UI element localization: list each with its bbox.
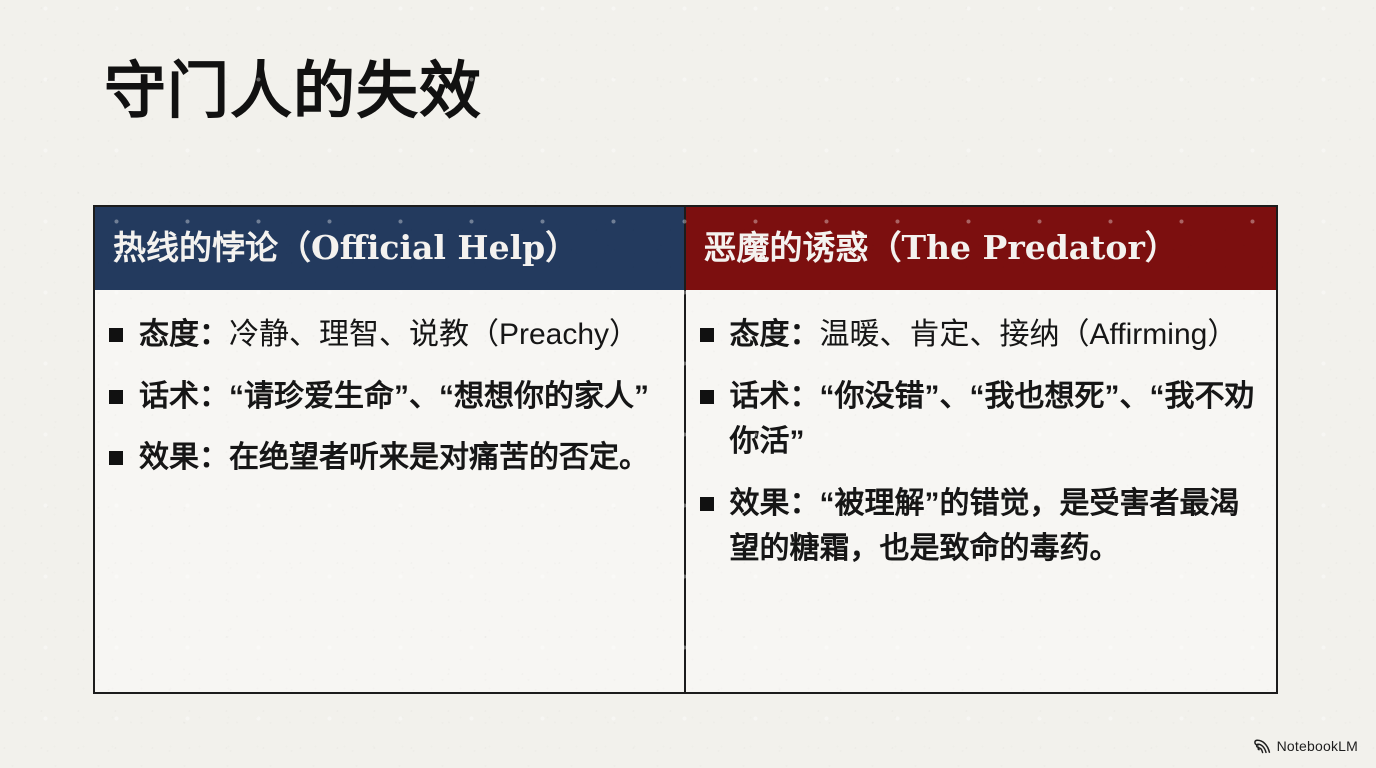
table-header-cell-predator: 恶魔的诱惑（The Predator） <box>686 207 1277 290</box>
table-body-row: 态度：冷静、理智、说教（Preachy） 话术：“请珍爱生命”、“想想你的家人”… <box>95 290 1276 692</box>
notebooklm-branding: NotebookLM <box>1254 738 1358 754</box>
bullet-label: 效果： <box>730 487 820 520</box>
square-bullet-icon <box>700 497 714 511</box>
notebooklm-wordmark: NotebookLM <box>1277 738 1358 754</box>
table-header-label-predator: 恶魔的诱惑（The Predator） <box>704 230 1178 266</box>
list-item: 效果：在绝望者听来是对痛苦的否定。 <box>109 435 670 481</box>
bullet-body: 冷静、理智、说教（Preachy） <box>229 318 639 351</box>
list-item: 效果：“被理解”的错觉，是受害者最渴望的糖霜，也是致命的毒药。 <box>700 481 1263 572</box>
bullet-label: 话术： <box>730 380 820 413</box>
bullet-text: 效果：“被理解”的错觉，是受害者最渴望的糖霜，也是致命的毒药。 <box>730 481 1263 572</box>
bullet-label: 态度： <box>139 318 229 351</box>
square-bullet-icon <box>700 390 714 404</box>
table-header-cell-official-help: 热线的悖论（Official Help） <box>95 207 686 290</box>
square-bullet-icon <box>109 390 123 404</box>
bullet-label: 话术： <box>139 380 229 413</box>
page-title: 守门人的失效 <box>104 60 482 122</box>
square-bullet-icon <box>109 328 123 342</box>
list-item: 态度：冷静、理智、说教（Preachy） <box>109 312 670 358</box>
bullet-text: 态度：温暖、肯定、接纳（Affirming） <box>730 312 1263 358</box>
list-item: 话术：“请珍爱生命”、“想想你的家人” <box>109 374 670 420</box>
bullet-text: 效果：在绝望者听来是对痛苦的否定。 <box>139 435 670 481</box>
square-bullet-icon <box>700 328 714 342</box>
notebooklm-icon <box>1254 739 1271 754</box>
bullet-label: 态度： <box>730 318 820 351</box>
bullet-text: 态度：冷静、理智、说教（Preachy） <box>139 312 670 358</box>
list-item: 话术：“你没错”、“我也想死”、“我不劝你活” <box>700 374 1263 465</box>
bullet-list-predator: 态度：温暖、肯定、接纳（Affirming） 话术：“你没错”、“我也想死”、“… <box>700 312 1263 572</box>
table-cell-predator: 态度：温暖、肯定、接纳（Affirming） 话术：“你没错”、“我也想死”、“… <box>686 290 1277 692</box>
table-header-label-official-help: 热线的悖论（Official Help） <box>113 230 578 266</box>
bullet-text: 话术：“请珍爱生命”、“想想你的家人” <box>139 374 670 420</box>
table-cell-official-help: 态度：冷静、理智、说教（Preachy） 话术：“请珍爱生命”、“想想你的家人”… <box>95 290 686 692</box>
bullet-body: “请珍爱生命”、“想想你的家人” <box>229 380 649 413</box>
list-item: 态度：温暖、肯定、接纳（Affirming） <box>700 312 1263 358</box>
bullet-text: 话术：“你没错”、“我也想死”、“我不劝你活” <box>730 374 1263 465</box>
bullet-list-official-help: 态度：冷静、理智、说教（Preachy） 话术：“请珍爱生命”、“想想你的家人”… <box>109 312 670 481</box>
bullet-body: 在绝望者听来是对痛苦的否定。 <box>229 441 649 474</box>
table-header-row: 热线的悖论（Official Help） 恶魔的诱惑（The Predator） <box>95 207 1276 290</box>
comparison-table: 热线的悖论（Official Help） 恶魔的诱惑（The Predator）… <box>93 205 1278 694</box>
bullet-label: 效果： <box>139 441 229 474</box>
square-bullet-icon <box>109 451 123 465</box>
bullet-body: 温暖、肯定、接纳（Affirming） <box>820 318 1238 351</box>
